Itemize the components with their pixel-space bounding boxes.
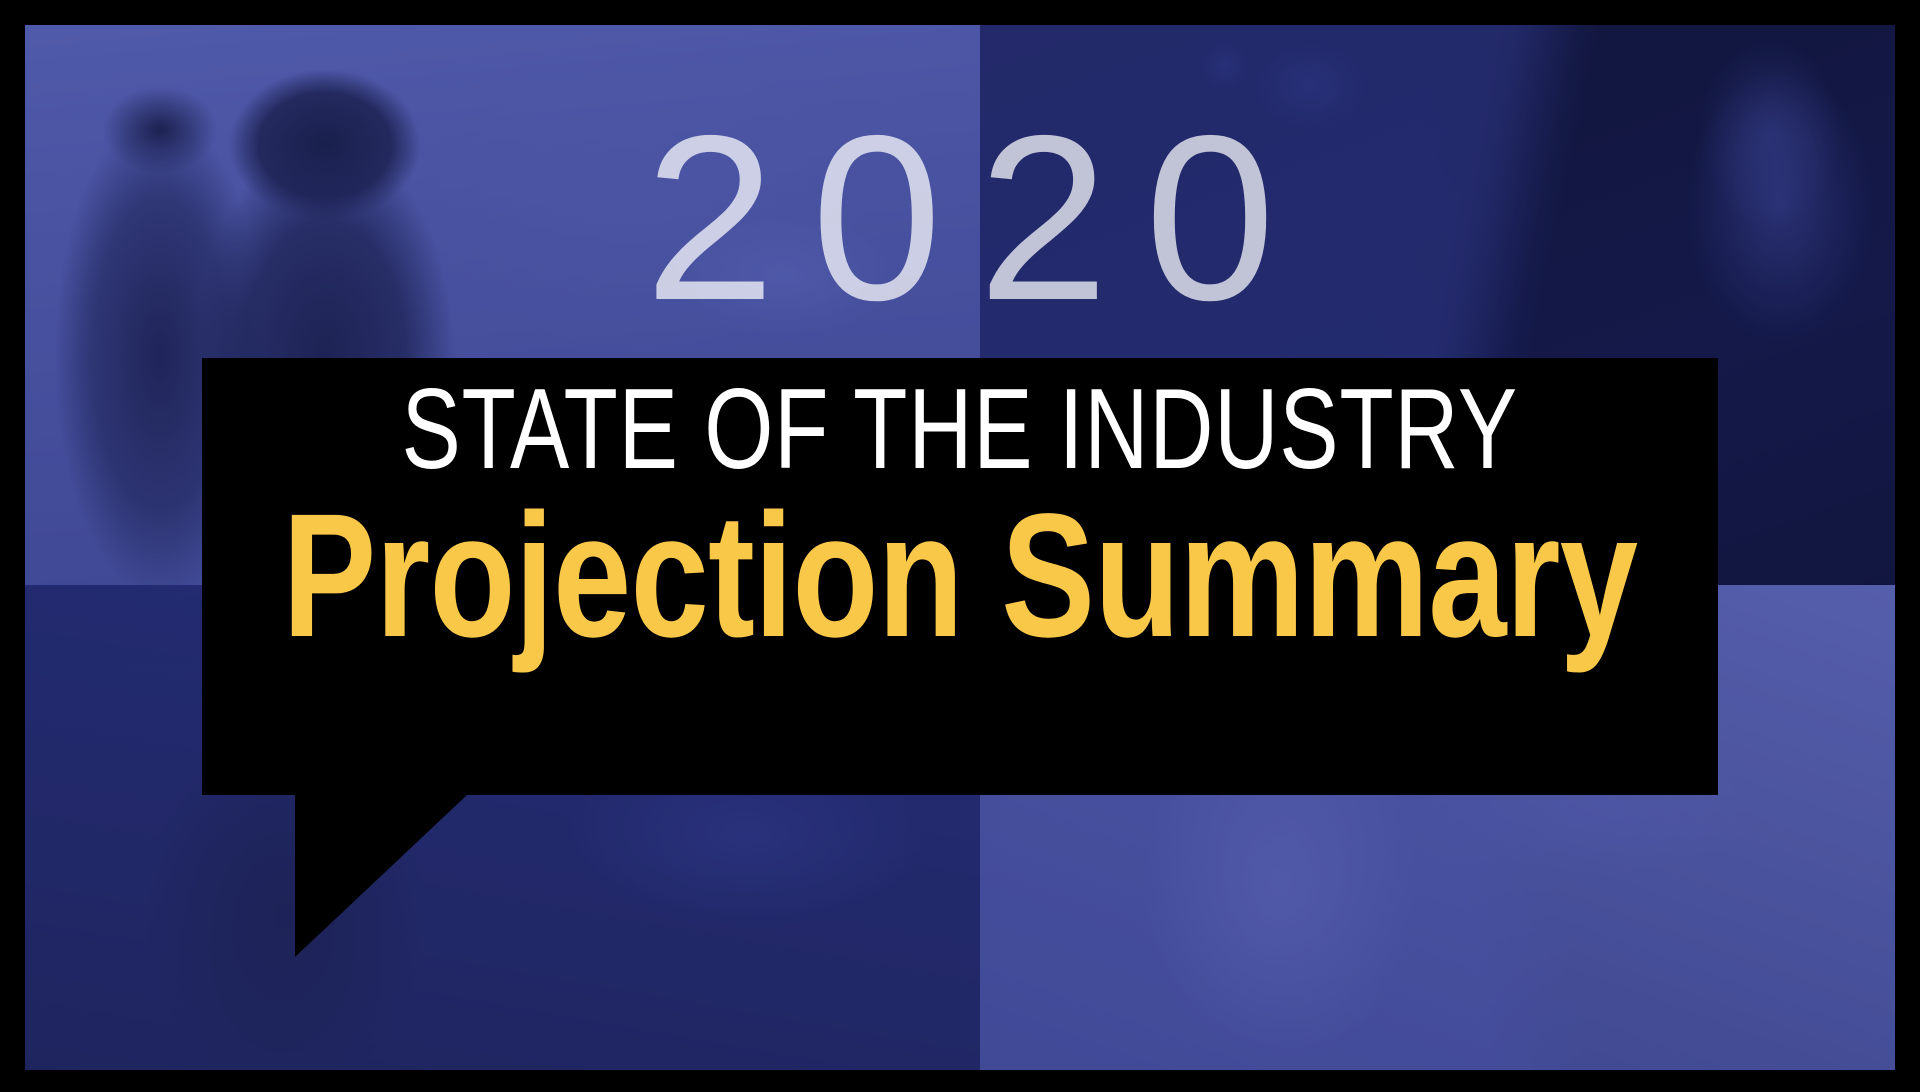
speech-bubble: STATE OF THE INDUSTRY Projection Summary bbox=[202, 358, 1718, 795]
speech-bubble-content: STATE OF THE INDUSTRY Projection Summary bbox=[202, 358, 1718, 795]
subheadline-text: Projection Summary bbox=[283, 484, 1638, 669]
headline-text: STATE OF THE INDUSTRY bbox=[402, 372, 1518, 488]
year-label: 2020 bbox=[0, 100, 1920, 335]
poster-root: 2020 STATE OF THE INDUSTRY Projection Su… bbox=[0, 0, 1920, 1092]
speech-bubble-tail bbox=[295, 795, 467, 957]
